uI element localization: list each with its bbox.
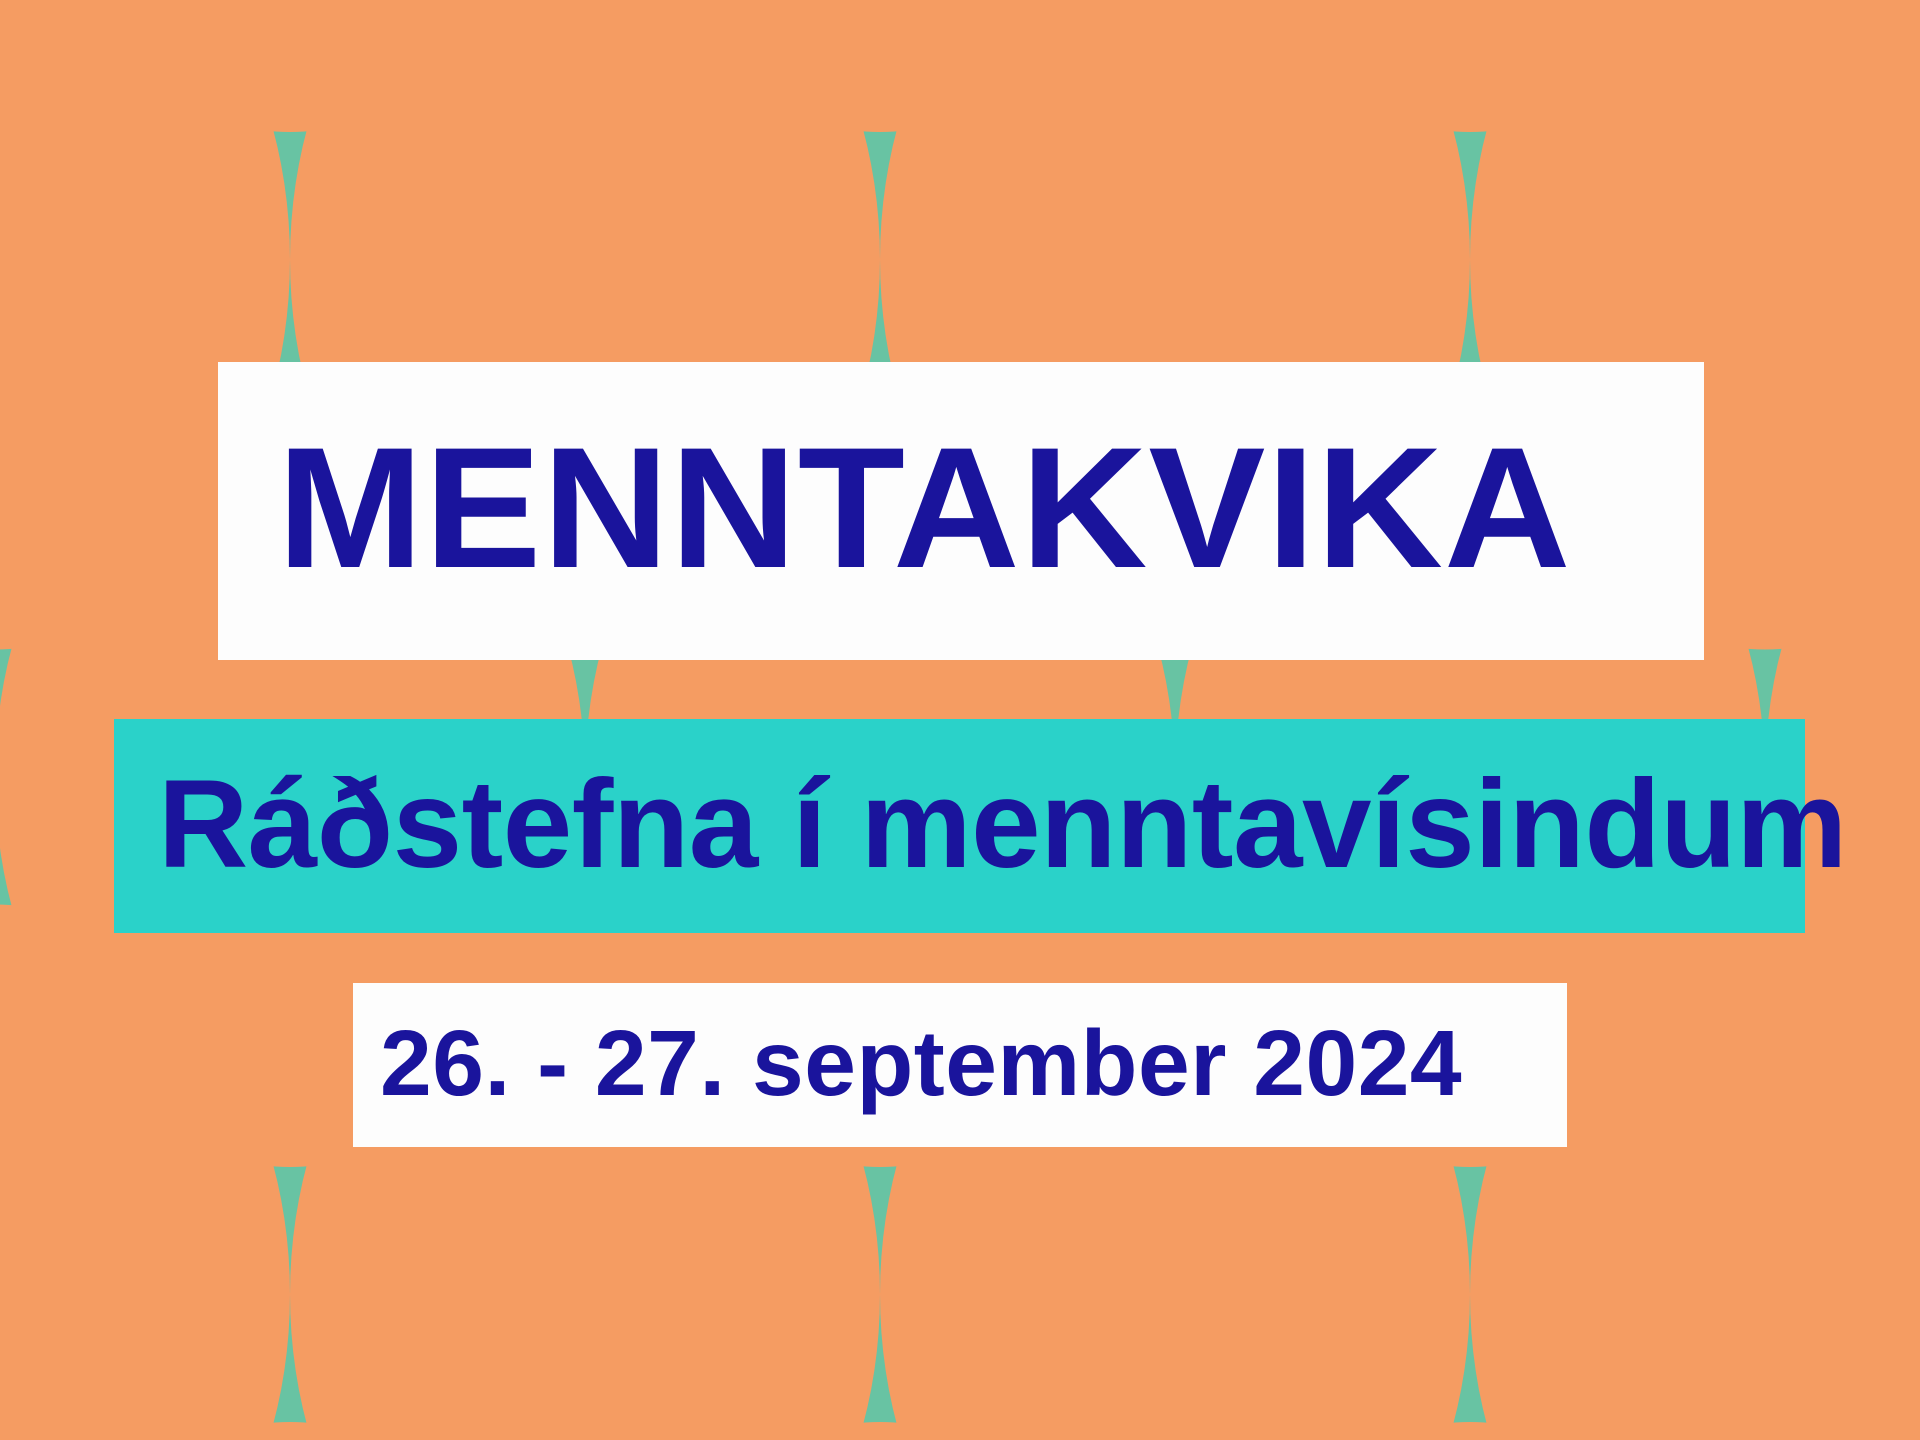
poster-subtitle: Ráðstefna í menntavísindum (114, 762, 1847, 887)
date-band: 26. - 27. september 2024 (353, 983, 1567, 1147)
subtitle-band: Ráðstefna í menntavísindum (114, 719, 1805, 933)
poster-canvas: MENNTAKVIKA Ráðstefna í menntavísindum 2… (0, 0, 1920, 1440)
poster-title: MENNTAKVIKA (218, 422, 1572, 594)
title-band: MENNTAKVIKA (218, 362, 1704, 660)
poster-date: 26. - 27. september 2024 (353, 1017, 1462, 1110)
